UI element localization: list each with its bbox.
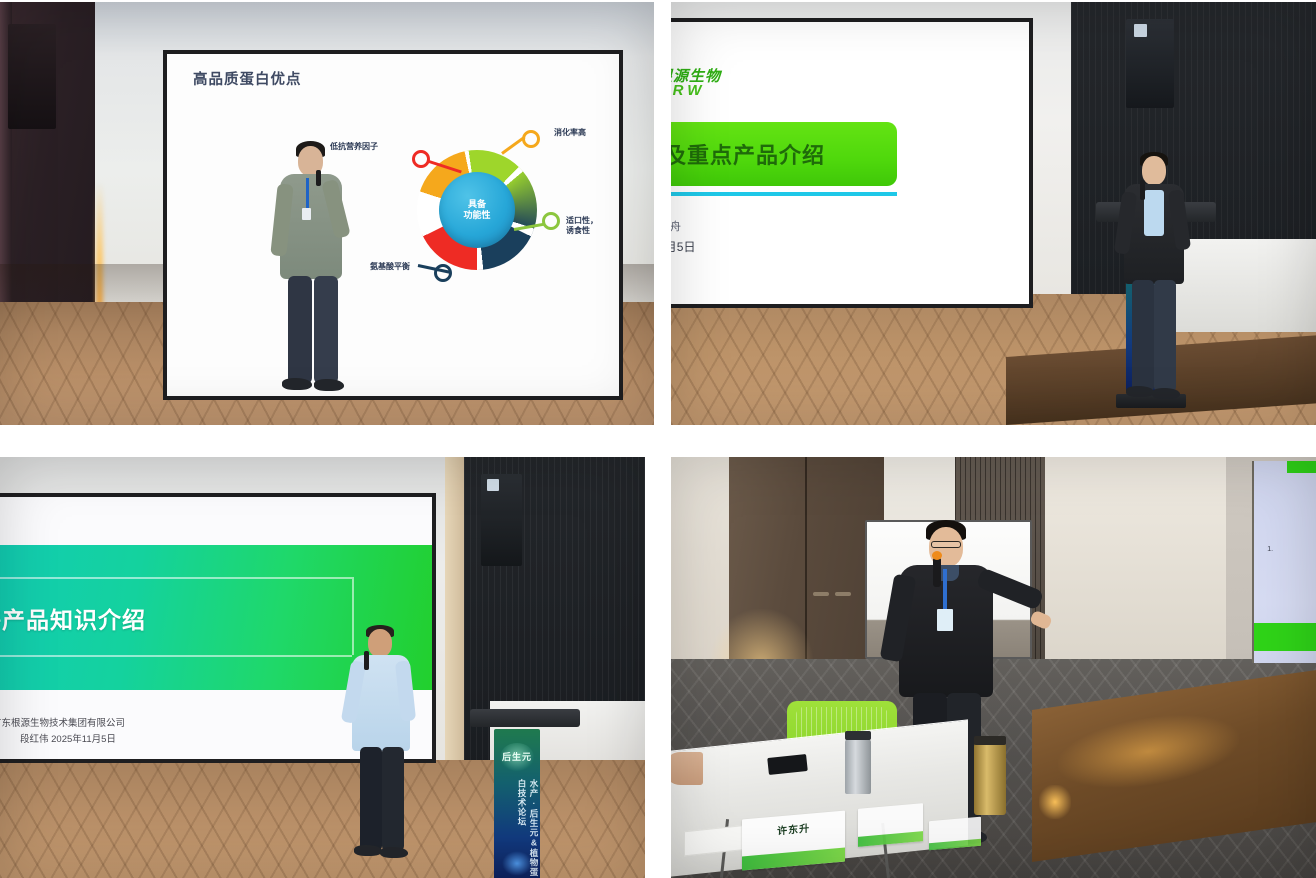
diagram-label-palatability: 适口性， 诱食性 — [566, 216, 598, 237]
slide-title-banner: 识及重点产品介绍 — [671, 122, 897, 186]
connector-node-navy — [434, 264, 452, 282]
connector-node-green — [542, 212, 560, 230]
right-leg — [1154, 280, 1176, 392]
microphone-icon — [316, 170, 321, 186]
microphone-icon — [364, 651, 369, 670]
guest-arm — [671, 752, 703, 786]
right-leg — [314, 276, 338, 384]
door-handle-right — [835, 592, 851, 596]
screen-green-top — [1287, 461, 1316, 473]
donut-center-line2: 功能性 — [463, 210, 490, 221]
lectern-top — [470, 709, 580, 727]
diagram-label-palatability-line1: 适口性， — [566, 216, 598, 226]
left-shoe — [282, 378, 312, 390]
left-shoe — [354, 845, 382, 856]
name-card: 许东升 — [742, 810, 845, 870]
name-card — [858, 804, 923, 848]
photo-bottom-right: 1. 许东升 — [671, 457, 1316, 878]
silver-tumbler — [845, 739, 871, 794]
photo-top-left: 高品质蛋白优点 具备 功能性 消化率高 适口性， 诱食性 — [0, 2, 654, 425]
stage-edge-lamp — [1039, 785, 1071, 819]
screen-note: 1. — [1267, 546, 1273, 553]
gold-tumbler — [974, 743, 1006, 815]
accent-rule — [671, 192, 897, 196]
presenter-figure — [272, 138, 362, 398]
photo-top-right: 根源生物 GRW 识及重点产品介绍 闫舟 25年11月5日 后生元 水产·后生元 — [671, 2, 1316, 425]
donut-diagram: 具备 功能性 消化率高 适口性， 诱食性 低抗营养因子 — [382, 124, 572, 299]
logo-text: 根源生物 GRW — [671, 70, 721, 99]
presentation-date: 25年11月5日 — [671, 238, 695, 255]
lectern: 后生元 水产·后生元&植物蛋白技术论坛 — [470, 709, 580, 878]
connector-node-orange — [522, 130, 540, 148]
right-leg — [382, 747, 404, 851]
presenter-name: 闫舟 — [671, 218, 681, 234]
diagram-label-palatability-line2: 诱食性 — [566, 226, 598, 236]
diagram-label-aminoacid: 氨基酸平衡 — [370, 262, 410, 272]
slide-surface: 根源生物 GRW 识及重点产品介绍 闫舟 25年11月5日 — [671, 22, 1029, 304]
lectern-banner: 后生元 水产·后生元&植物蛋白技术论坛 — [494, 729, 540, 878]
banner-glow — [502, 851, 531, 876]
door-handle-left — [813, 592, 829, 596]
right-shoe — [1152, 388, 1180, 399]
presenter-figure — [1114, 152, 1206, 422]
banner-line-bottom — [0, 655, 352, 657]
banner-line-top — [0, 577, 352, 579]
projection-screen: 高品质蛋白优点 具备 功能性 消化率高 适口性， 诱食性 — [163, 50, 623, 400]
photo-bottom-left: 酶产品知识介绍 广东根源生物技术集团有限公司 段红伟 2025年11月5日 — [0, 457, 645, 878]
slide-title: 识及重点产品介绍 — [671, 138, 825, 170]
name-card-text: 许东升 — [777, 820, 810, 838]
head — [1142, 156, 1166, 185]
ceiling-speaker — [481, 474, 523, 567]
right-shoe — [314, 379, 344, 391]
forum-logo: 后生元 — [500, 743, 534, 771]
name-card — [929, 817, 981, 851]
lanyard — [306, 178, 309, 210]
microphone-icon — [1140, 180, 1145, 200]
badge — [302, 208, 311, 220]
head — [368, 629, 392, 657]
photo-collage: 高品质蛋白优点 具备 功能性 消化率高 适口性， 诱食性 — [0, 0, 1316, 878]
diagram-label-digestibility: 消化率高 — [554, 128, 586, 138]
right-shoe — [380, 847, 408, 858]
left-shoe — [1126, 386, 1154, 397]
ceiling-speaker — [8, 24, 56, 129]
screen-green-bottom — [1254, 623, 1316, 651]
slide-surface: 高品质蛋白优点 具备 功能性 消化率高 适口性， 诱食性 — [167, 54, 619, 396]
projection-screen: 根源生物 GRW 识及重点产品介绍 闫舟 25年11月5日 — [671, 18, 1033, 308]
lanyard — [943, 569, 947, 613]
badge — [937, 609, 953, 631]
connector-node-red — [412, 150, 430, 168]
company-logo: 根源生物 GRW — [671, 70, 721, 99]
left-leg — [1132, 280, 1154, 392]
slide-title: 高品质蛋白优点 — [193, 68, 302, 89]
shirt — [1144, 190, 1164, 236]
logo-latin: GRW — [671, 84, 721, 98]
projection-screen-edge: 1. — [1252, 461, 1316, 663]
presenter-figure — [342, 625, 430, 875]
presenter-and-date: 段红伟 2025年11月5日 — [20, 731, 116, 745]
right-wall — [1045, 457, 1226, 659]
glasses-icon — [931, 541, 961, 548]
microphone-icon — [933, 557, 941, 587]
donut-center: 具备 功能性 — [439, 172, 515, 248]
company-name: 广东根源生物技术集团有限公司 — [0, 715, 125, 729]
title-slide: 根源生物 GRW 识及重点产品介绍 闫舟 25年11月5日 — [671, 22, 1029, 304]
left-leg — [288, 276, 312, 384]
ceiling-speaker — [1126, 19, 1174, 108]
donut-center-line1: 具备 — [468, 199, 486, 210]
left-leg — [360, 747, 382, 851]
slide-title: 酶产品知识介绍 — [0, 601, 146, 635]
